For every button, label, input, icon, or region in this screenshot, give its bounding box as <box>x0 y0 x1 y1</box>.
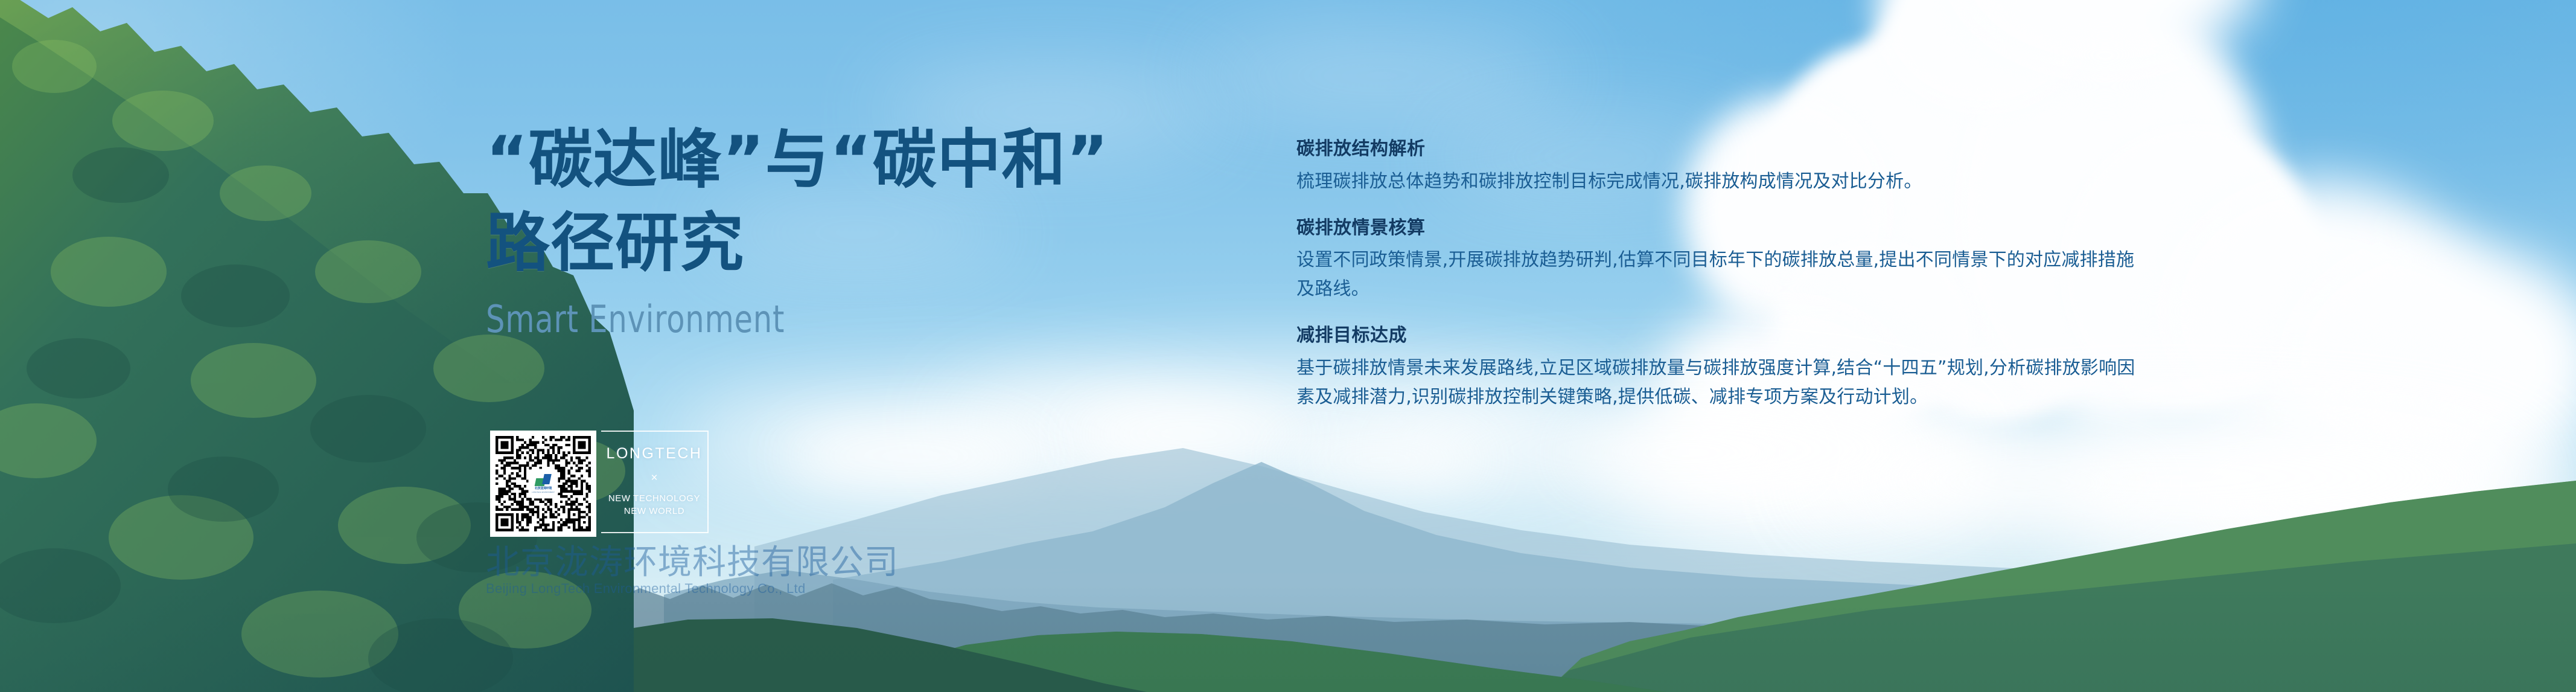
tagline-box: LONGTECH × NEW TECHNOLOGY NEW WORLD <box>601 431 709 533</box>
headline-line-1: “碳达峰”与“碳中和” <box>486 123 1109 197</box>
brand-name: LONGTECH <box>607 446 703 461</box>
info-item: 碳排放结构解析 梳理碳排放总体趋势和碳排放控制目标完成情况,碳排放构成情况及对比… <box>1296 138 2141 196</box>
info-title: 减排目标达成 <box>1296 324 2141 347</box>
info-item: 减排目标达成 基于碳排放情景未来发展路线,立足区域碳排放量与碳排放强度计算,结合… <box>1296 324 2141 412</box>
brand-tagline: NEW TECHNOLOGY NEW WORLD <box>601 492 707 518</box>
qr-logo-en-label: LONGTECH ENVIRONMENT <box>532 492 555 494</box>
info-column: 碳排放结构解析 梳理碳排放总体趋势和碳排放控制目标完成情况,碳排放构成情况及对比… <box>1296 138 2141 412</box>
info-item: 碳排放情景核算 设置不同政策情景,开展碳排放趋势研判,估算不同目标年下的碳排放总… <box>1296 217 2141 304</box>
qr-code-card[interactable]: 北京泷涛环境 LONGTECH ENVIRONMENT <box>490 431 596 537</box>
info-body: 梳理碳排放总体趋势和碳排放控制目标完成情况,碳排放构成情况及对比分析。 <box>1296 167 2137 196</box>
banner-root: “碳达峰”与“碳中和” 路径研究 Smart Environment 北京泷涛环… <box>0 0 2576 692</box>
qr-center-logo: 北京泷涛环境 LONGTECH ENVIRONMENT <box>529 470 557 498</box>
page-title: “碳达峰”与“碳中和” 路径研究 <box>486 118 1210 285</box>
info-body: 设置不同政策情景,开展碳排放趋势研判,估算不同目标年下的碳排放总量,提出不同情景… <box>1296 246 2137 304</box>
hero-text-block: “碳达峰”与“碳中和” 路径研究 Smart Environment <box>486 118 1210 338</box>
info-body: 基于碳排放情景未来发展路线,立足区域碳排放量与碳排放强度计算,结合“十四五”规划… <box>1296 354 2137 412</box>
headline-line-2: 路径研究 <box>486 202 1210 285</box>
left-forest-hill <box>0 0 634 692</box>
info-title: 碳排放结构解析 <box>1296 138 2141 161</box>
qr-promo-block: 北京泷涛环境 LONGTECH ENVIRONMENT LONGTECH × N… <box>490 431 709 537</box>
longtech-logo-icon <box>535 474 551 486</box>
hero-subtitle: Smart Environment <box>486 301 1065 338</box>
info-title: 碳排放情景核算 <box>1296 217 2141 240</box>
cross-symbol-icon: × <box>651 472 657 484</box>
qr-logo-cn-label: 北京泷涛环境 <box>535 487 552 490</box>
